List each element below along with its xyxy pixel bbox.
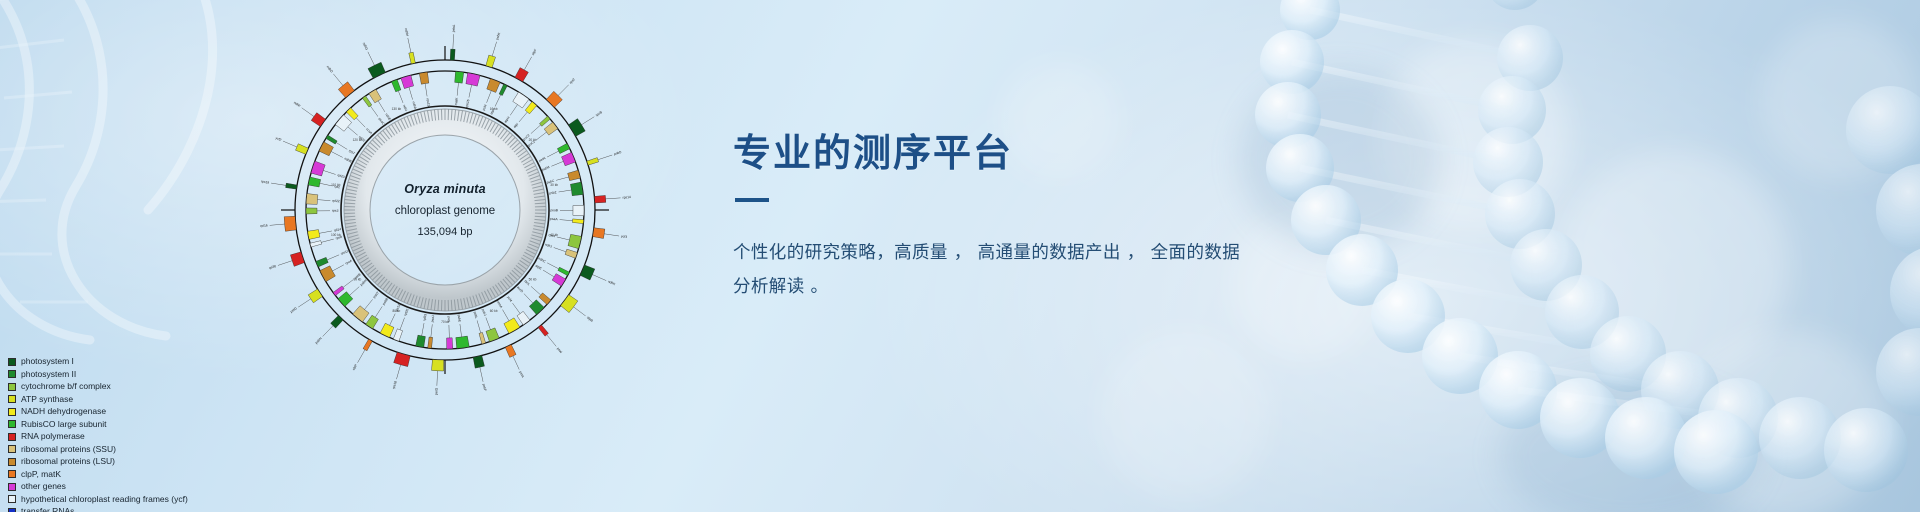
chloroplast-genome-map: psbAmatKrps16psbKpsbIatpAatpFatpHatpIrps… xyxy=(243,8,647,412)
genome-gene-segment xyxy=(505,345,516,358)
genome-gene-segment xyxy=(369,89,381,103)
genome-gene-segment xyxy=(284,216,296,231)
legend-item: transfer RNAs xyxy=(8,506,188,512)
genome-gene-label: ycf3 xyxy=(621,234,628,239)
genome-gene-segment xyxy=(568,170,581,180)
genome-gene-label: rpl20 xyxy=(403,308,409,316)
legend-color-swatch xyxy=(8,383,16,391)
title-divider xyxy=(735,198,769,202)
genome-gene-label: ndhA xyxy=(411,101,417,110)
genome-gene-segment xyxy=(335,115,351,131)
genome-gene-label: psaJ xyxy=(430,315,435,323)
legend-color-swatch xyxy=(8,458,16,466)
genome-gene-label: psbT xyxy=(372,291,380,299)
genome-gene-label: ndhK xyxy=(607,279,616,286)
genome-gene-segment xyxy=(310,241,322,247)
genome-gene-segment xyxy=(320,266,335,282)
genome-gene-label: rps16 xyxy=(465,99,471,108)
genome-gene-label: petD xyxy=(290,306,299,314)
genome-gene-segment xyxy=(393,329,402,341)
genome-tick-label: 40 kb xyxy=(550,233,558,237)
genome-gene-label: ycf2 xyxy=(275,136,282,142)
genome-tick-label: 10 kb xyxy=(490,107,498,111)
genome-gene-label: rpl36 xyxy=(268,264,276,270)
legend-item: photosystem I xyxy=(8,356,188,368)
genome-gene-segment xyxy=(538,325,548,336)
legend-color-swatch xyxy=(8,495,16,503)
genome-gene-segment xyxy=(296,144,309,155)
genome-gene-segment xyxy=(353,306,369,322)
genome-tick-label: 100 kb xyxy=(331,233,341,237)
legend-item-label: hypothetical chloroplast reading frames … xyxy=(21,495,188,504)
legend-item-label: RubisCO large subunit xyxy=(21,420,107,429)
legend-color-swatch xyxy=(8,408,16,416)
genome-gene-segment xyxy=(409,52,416,64)
genome-gene-segment xyxy=(593,228,605,239)
genome-tick-label: 120 kb xyxy=(353,138,363,142)
genome-gene-segment xyxy=(456,336,469,348)
genome-gene-label: psbE xyxy=(457,314,462,323)
genome-gene-label: rps15 xyxy=(426,98,431,107)
banner-description: 个性化的研究策略，高质量 ， 高通量的数据产出 ， 全面的数据分析解读 。 xyxy=(733,236,1253,304)
legend-item: ATP synthase xyxy=(8,393,188,405)
genome-gene-segment xyxy=(308,230,320,240)
genome-gene-segment xyxy=(394,352,411,366)
genome-gene-segment xyxy=(587,158,599,166)
genome-tick-label: 30 kb xyxy=(550,183,558,187)
genome-gene-label: psbN xyxy=(314,336,323,345)
genome-tick-label: 90 kb xyxy=(354,278,362,282)
page-title: 专业的测序平台 xyxy=(733,134,1433,172)
genome-gene-label: atpB xyxy=(586,315,594,323)
genome-tick-label: 80 kb xyxy=(392,309,400,313)
genome-gene-segment xyxy=(290,252,304,267)
genome-gene-segment xyxy=(487,79,500,93)
legend-item: ribosomal proteins (SSU) xyxy=(8,443,188,455)
legend-item-label: ATP synthase xyxy=(21,395,73,404)
genome-gene-label: rps19 xyxy=(261,179,270,184)
genome-gene-segment xyxy=(363,339,372,351)
genome-gene-label: psbF xyxy=(482,383,487,391)
genome-gene-segment xyxy=(570,182,583,196)
legend-color-swatch xyxy=(8,470,16,478)
genome-gene-segment xyxy=(561,152,575,165)
genome-gene-segment xyxy=(362,96,371,107)
genome-gene-label: rps3 xyxy=(332,209,339,213)
genome-gene-label: psaA xyxy=(550,217,559,222)
genome-gene-segment xyxy=(416,335,426,347)
genome-gene-label: rpl16 xyxy=(260,223,268,228)
gene-category-legend: photosystem Iphotosystem IIcytochrome b/… xyxy=(8,356,188,512)
legend-item: other genes xyxy=(8,481,188,493)
legend-item: clpP, matK xyxy=(8,468,188,480)
genome-gene-segment xyxy=(391,80,400,92)
genome-gene-segment xyxy=(558,267,569,275)
genome-gene-label: ccsA xyxy=(365,127,373,135)
genome-gene-segment xyxy=(544,122,558,135)
legend-color-swatch xyxy=(8,483,16,491)
genome-gene-label: psbM xyxy=(541,165,550,172)
legend-item-label: other genes xyxy=(21,482,66,491)
genome-gene-segment xyxy=(479,332,486,344)
genome-gene-segment xyxy=(326,135,337,144)
genome-gene-segment xyxy=(561,295,578,313)
genome-gene-segment xyxy=(450,49,455,60)
genome-gene-label: rpoA xyxy=(345,258,354,265)
legend-item-label: NADH dehydrogenase xyxy=(21,407,106,416)
genome-gene-label: atpH xyxy=(503,115,511,124)
legend-color-swatch xyxy=(8,508,16,512)
genome-gene-label: psbL xyxy=(473,311,479,319)
genome-tick-label: 50 kb xyxy=(529,278,537,282)
genome-gene-segment xyxy=(565,249,577,258)
legend-color-swatch xyxy=(8,445,16,453)
genome-tick-label: 110 kb xyxy=(331,183,341,187)
genome-gene-segment xyxy=(573,205,584,215)
genome-gene-segment xyxy=(308,289,322,303)
genome-gene-segment xyxy=(486,55,496,68)
sequencing-platform-banner: psbAmatKrps16psbKpsbIatpAatpFatpHatpIrps… xyxy=(0,0,1920,512)
genome-gene-label: rps18 xyxy=(392,380,398,389)
genome-gene-label: psbK xyxy=(495,31,501,40)
genome-gene-segment xyxy=(432,359,444,371)
banner-copy: 专业的测序平台 个性化的研究策略，高质量 ， 高通量的数据产出 ， 全面的数据分… xyxy=(733,134,1433,304)
legend-color-swatch xyxy=(8,433,16,441)
genome-gene-segment xyxy=(366,315,379,329)
genome-gene-segment xyxy=(338,82,354,98)
genome-gene-segment xyxy=(499,84,507,96)
legend-color-swatch xyxy=(8,370,16,378)
genome-gene-segment xyxy=(539,116,550,126)
legend-item-label: clpP, matK xyxy=(21,470,61,479)
genome-gene-segment xyxy=(557,143,569,153)
legend-item: cytochrome b/f complex xyxy=(8,381,188,393)
legend-item-label: RNA polymerase xyxy=(21,432,85,441)
genome-gene-label: petG xyxy=(434,387,438,395)
genome-gene-segment xyxy=(419,72,429,84)
genome-gene-segment xyxy=(486,328,499,342)
genome-gene-label: ndhH xyxy=(404,28,410,37)
genome-gene-segment xyxy=(308,177,320,187)
legend-item-label: ribosomal proteins (LSU) xyxy=(21,457,115,466)
genome-gene-segment xyxy=(311,161,325,176)
genome-gene-label: psbA xyxy=(452,24,456,33)
legend-item-label: ribosomal proteins (SSU) xyxy=(21,445,116,454)
genome-gene-segment xyxy=(513,92,529,108)
genome-gene-segment xyxy=(473,355,484,368)
genome-gene-label: ndhG xyxy=(362,42,369,51)
genome-gene-label: rpoB xyxy=(595,110,604,118)
genome-gene-label: rps11 xyxy=(340,249,349,256)
genome-gene-label: rps7 xyxy=(348,149,356,156)
genome-gene-segment xyxy=(455,71,464,83)
genome-gene-segment xyxy=(333,286,344,296)
legend-item: NADH dehydrogenase xyxy=(8,406,188,418)
legend-item-label: photosystem II xyxy=(21,370,76,379)
legend-item: photosystem II xyxy=(8,368,188,380)
legend-color-swatch xyxy=(8,358,16,366)
genome-gene-segment xyxy=(286,183,298,189)
genome-gene-segment xyxy=(319,142,333,156)
legend-item: hypothetical chloroplast reading frames … xyxy=(8,493,188,505)
legend-item-label: cytochrome b/f complex xyxy=(21,382,111,391)
genome-gene-segment xyxy=(306,208,317,214)
genome-gene-label: ndhF xyxy=(293,101,301,109)
legend-item: ribosomal proteins (LSU) xyxy=(8,456,188,468)
genome-tick-label: 60 kb xyxy=(490,309,498,313)
legend-item: RNA polymerase xyxy=(8,431,188,443)
genome-gene-segment xyxy=(338,292,353,307)
genome-gene-segment xyxy=(517,311,530,325)
genome-gene-segment xyxy=(428,337,433,348)
genome-gene-label: psbD xyxy=(613,150,622,156)
genome-gene-segment xyxy=(306,194,318,205)
genome-gene-segment xyxy=(311,113,325,127)
genome-gene-label: accD xyxy=(516,285,524,294)
genome-tick-label: 130 kb xyxy=(392,107,402,111)
genome-gene-segment xyxy=(552,274,566,286)
genome-gene-segment xyxy=(447,338,453,349)
genome-gene-segment xyxy=(316,257,328,267)
genome-gene-segment xyxy=(504,318,520,334)
genome-gene-segment xyxy=(368,62,385,78)
genome-gene-label: atpF xyxy=(531,48,538,56)
genome-gene-label: rpl14 xyxy=(334,227,342,232)
genome-tick-label: 20 kb xyxy=(529,138,537,142)
genome-gene-label: ycf4 xyxy=(506,295,513,302)
genome-gene-label: psaI xyxy=(556,347,563,354)
genome-gene-label: atpI xyxy=(513,122,520,129)
genome-gene-label: ndhC xyxy=(537,256,546,263)
legend-color-swatch xyxy=(8,420,16,428)
genome-gene-label: ndhI xyxy=(402,104,408,112)
genome-gene-label: atpE xyxy=(535,264,544,271)
genome-gene-label: ndhJ xyxy=(544,243,552,249)
genome-gene-label: matK xyxy=(454,97,459,106)
genome-gene-label: petN xyxy=(538,156,547,163)
genome-gene-label: rps14 xyxy=(622,195,631,200)
genome-gene-label: psaB xyxy=(550,208,558,212)
genome-gene-segment xyxy=(594,195,605,203)
genome-gene-label: psbZ xyxy=(549,190,557,195)
genome-gene-label: rpl23 xyxy=(337,173,345,179)
genome-gene-label: clpP xyxy=(352,363,359,371)
legend-item: RubisCO large subunit xyxy=(8,418,188,430)
genome-gene-label: petA xyxy=(518,370,525,379)
genome-gene-segment xyxy=(466,73,480,86)
genome-gene-segment xyxy=(572,219,583,224)
legend-item-label: transfer RNAs xyxy=(21,507,74,512)
genome-gene-label: psbI xyxy=(482,104,488,111)
genome-gene-label: rps2 xyxy=(569,77,576,84)
genome-gene-segment xyxy=(515,68,528,82)
genome-gene-segment xyxy=(380,323,394,337)
genome-gene-label: psbJ xyxy=(481,308,487,316)
legend-item-label: photosystem I xyxy=(21,357,74,366)
legend-color-swatch xyxy=(8,395,16,403)
genome-gene-label: rpl33 xyxy=(422,313,427,321)
genome-gene-segment xyxy=(568,119,585,137)
genome-gene-label: rpl22 xyxy=(332,199,340,204)
genome-tick-label: 70 kb xyxy=(441,320,449,324)
genome-gene-label: ndhD xyxy=(326,65,334,74)
genome-gene-segment xyxy=(580,265,595,280)
